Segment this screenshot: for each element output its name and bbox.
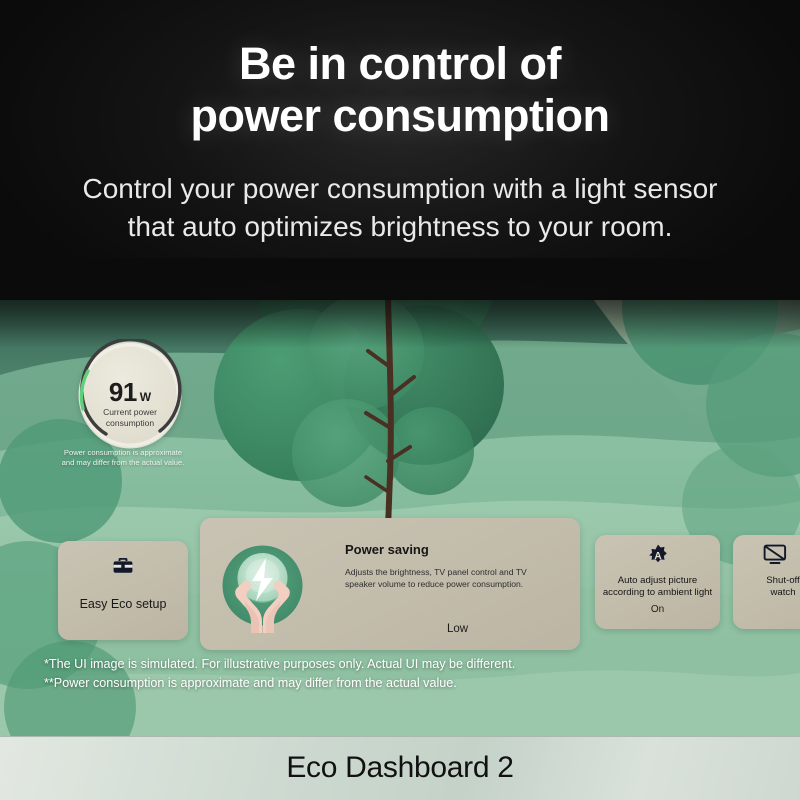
hands-holding-energy-orb-icon — [215, 538, 310, 633]
card-auto-adjust-picture[interactable]: A Auto adjust picture according to ambie… — [595, 535, 720, 629]
gauge-caption: Current power consumption — [76, 407, 184, 429]
gauge-readout: 91W — [76, 377, 184, 408]
card-easy-eco-setup[interactable]: Easy Eco setup — [58, 541, 188, 640]
gauge-note: Power consumption is approximate and may… — [18, 448, 228, 468]
card-auto-adjust-picture-label: Auto adjust picture according to ambient… — [595, 575, 720, 599]
card-shut-off-label: Shut-off watch — [733, 575, 800, 599]
eco-dashboard-promo: 91W Current power consumption Power cons… — [0, 0, 800, 800]
toolbox-icon — [58, 556, 188, 580]
power-consumption-gauge: 91W Current power consumption — [76, 339, 184, 451]
svg-text:A: A — [654, 551, 661, 562]
card-power-saving-level[interactable]: Low — [345, 623, 570, 635]
card-shut-off[interactable]: Shut-off watch — [733, 535, 800, 629]
card-power-saving-description: Adjusts the brightness, TV panel control… — [345, 566, 570, 590]
tv-off-icon — [745, 544, 800, 570]
bottom-bar: Eco Dashboard 2 — [0, 736, 800, 800]
card-power-saving-title: Power saving — [345, 542, 429, 557]
card-auto-adjust-picture-status: On — [595, 604, 720, 615]
card-power-saving[interactable]: Power saving Adjusts the brightness, TV … — [200, 518, 580, 650]
auto-brightness-a-icon: A — [595, 544, 720, 571]
hero-subtitle: Control your power consumption with a li… — [0, 170, 800, 246]
bottom-bar-title: Eco Dashboard 2 — [0, 751, 800, 785]
disclaimer-text: *The UI image is simulated. For illustra… — [44, 655, 744, 693]
card-easy-eco-setup-label: Easy Eco setup — [58, 597, 188, 611]
page-title: Be in control of power consumption — [0, 38, 800, 142]
gauge-unit: W — [140, 390, 151, 404]
gauge-value: 91 — [109, 377, 137, 407]
hero-banner: Be in control of power consumption Contr… — [0, 0, 800, 300]
